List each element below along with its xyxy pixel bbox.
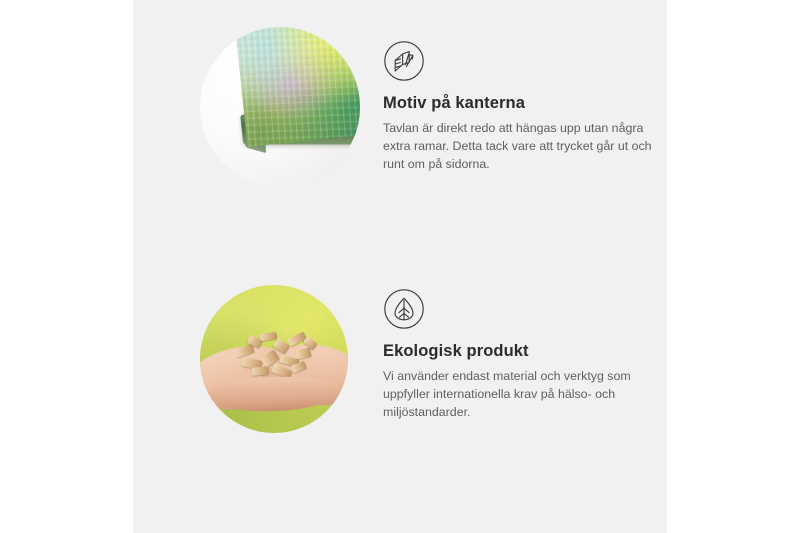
feature-text-edges: Motiv på kanterna Tavlan är direkt redo … — [383, 40, 658, 173]
feature-text-eco: Ekologisk produkt Vi använder endast mat… — [383, 288, 658, 421]
feature-title: Ekologisk produkt — [383, 342, 658, 362]
canvas-printed-face — [234, 27, 360, 147]
feature-body: Tavlan är direkt redo att hängas upp uta… — [383, 119, 658, 173]
canvas-block — [226, 27, 360, 174]
feature-block-eco: Ekologisk produkt Vi använder endast mat… — [133, 266, 667, 533]
canvas-wrapped-edge-icon — [383, 40, 425, 82]
product-feature-banner: Motiv på kanterna Tavlan är direkt redo … — [0, 0, 800, 533]
content-panel: Motiv på kanterna Tavlan är direkt redo … — [133, 0, 667, 533]
feature-title: Motiv på kanterna — [383, 94, 658, 114]
feature-block-edges: Motiv på kanterna Tavlan är direkt redo … — [133, 0, 667, 266]
leaf-icon — [383, 288, 425, 330]
hands-wood-chips-photo — [200, 285, 348, 433]
canvas-corner-photo — [200, 27, 360, 187]
feature-body: Vi använder endast material och verktyg … — [383, 367, 658, 421]
wood-chips — [234, 331, 320, 379]
